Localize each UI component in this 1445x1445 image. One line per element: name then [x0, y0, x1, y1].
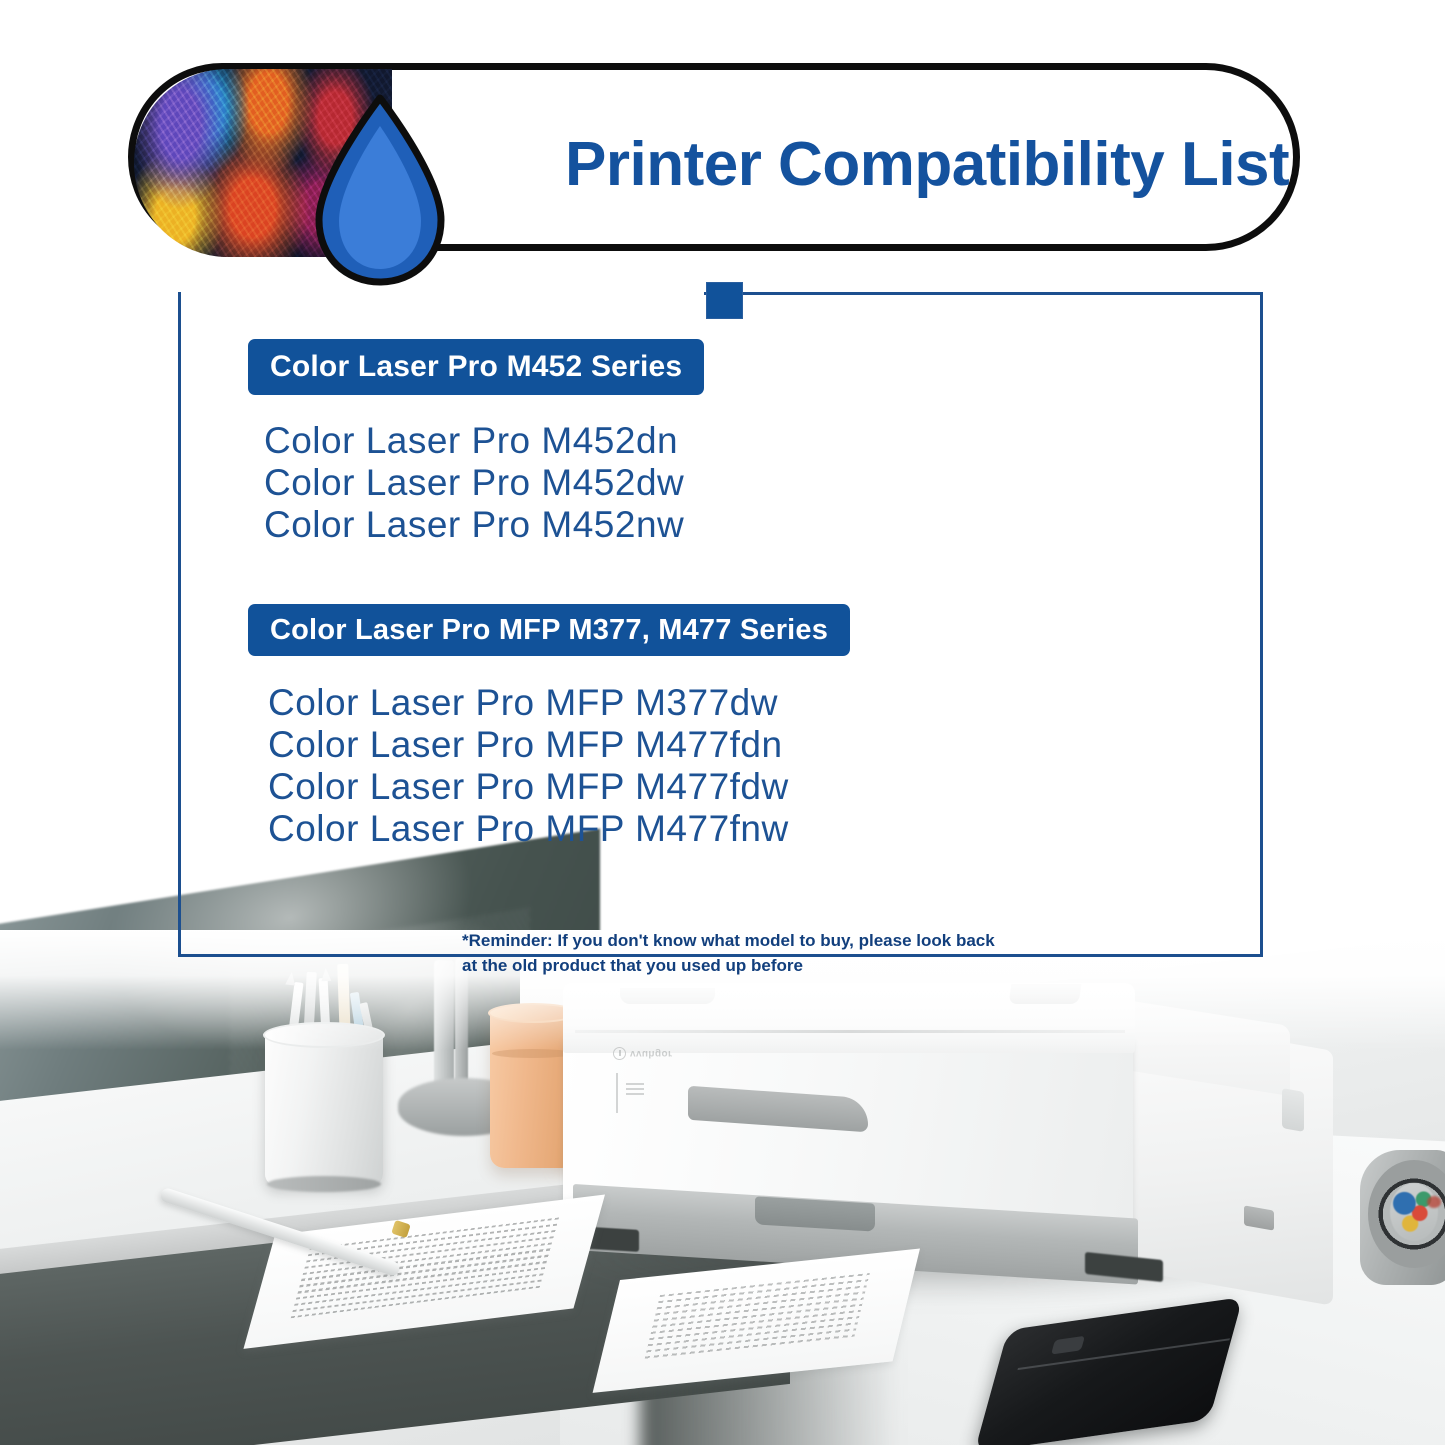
reminder-line-2: at the old product that you used up befo… [462, 953, 1022, 978]
model-list-m452: Color Laser Pro M452dn Color Laser Pro M… [264, 420, 684, 546]
list-item: Color Laser Pro M452dw [264, 462, 684, 504]
section-badge-m452: Color Laser Pro M452 Series [248, 339, 704, 395]
reminder-note: *Reminder: If you don't know what model … [462, 928, 1022, 978]
frame-tab-square [706, 282, 743, 319]
list-item: Color Laser Pro MFP M477fdn [268, 724, 789, 766]
list-item: Color Laser Pro M452nw [264, 504, 684, 546]
header-banner: Printer Compatibility List [128, 63, 1300, 251]
list-item: Color Laser Pro MFP M377dw [268, 682, 789, 724]
section-badge-mfp: Color Laser Pro MFP M377, M477 Series [248, 604, 850, 656]
ink-droplet-icon [305, 92, 455, 288]
model-list-mfp: Color Laser Pro MFP M377dw Color Laser P… [268, 682, 789, 850]
reminder-line-1: *Reminder: If you don't know what model … [462, 928, 1022, 953]
page-title: Printer Compatibility List [565, 70, 1289, 258]
content-overlay: Printer Compatibility List Color Laser P… [0, 0, 1445, 1445]
frame-tab-notch [181, 290, 704, 297]
list-item: Color Laser Pro MFP M477fdw [268, 766, 789, 808]
list-item: Color Laser Pro M452dn [264, 420, 684, 462]
list-item: Color Laser Pro MFP M477fnw [268, 808, 789, 850]
